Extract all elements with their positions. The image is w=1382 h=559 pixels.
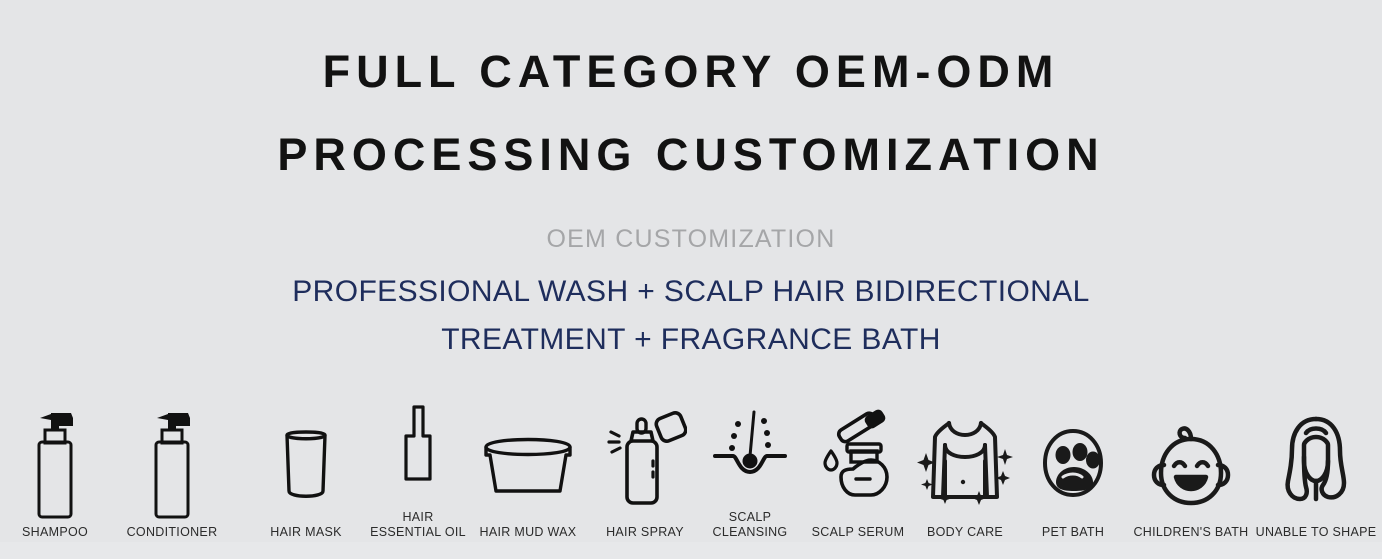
baby-face-icon	[1126, 409, 1256, 519]
category-icon-row: SHAMPOO CONDITIONER	[0, 370, 1382, 540]
tub-icon	[463, 409, 593, 519]
promo-banner: FULL CATEGORY OEM-ODM PROCESSING CUSTOMI…	[0, 0, 1382, 559]
category-item-pet-bath[interactable]: PET BATH	[1008, 370, 1138, 540]
category-item-shampoo[interactable]: SHAMPOO	[0, 370, 120, 540]
page-title: FULL CATEGORY OEM-ODM PROCESSING CUSTOMI…	[0, 30, 1382, 196]
category-item-childrens-bath[interactable]: CHILDREN'S BATH	[1126, 370, 1256, 540]
subtitle-blue-line-1: PROFESSIONAL WASH + SCALP HAIR BIDIRECTI…	[0, 268, 1382, 316]
title-line-2: PROCESSING CUSTOMIZATION	[0, 113, 1382, 196]
category-label: UNABLE TO SHAPE	[1251, 525, 1381, 540]
category-item-hair-mud-wax[interactable]: HAIR MUD WAX	[463, 370, 593, 540]
pump-bottle-icon	[107, 409, 237, 519]
subtitle-blue-line-2: TREATMENT + FRAGRANCE BATH	[0, 316, 1382, 364]
category-item-hair-mask[interactable]: HAIR MASK	[241, 370, 371, 540]
category-item-conditioner[interactable]: CONDITIONER	[107, 370, 237, 540]
category-label: HAIR MASK	[241, 525, 371, 540]
subtitle-blue: PROFESSIONAL WASH + SCALP HAIR BIDIRECTI…	[0, 268, 1382, 364]
paw-print-icon	[1008, 409, 1138, 519]
category-label: PET BATH	[1008, 525, 1138, 540]
category-label: CHILDREN'S BATH	[1126, 525, 1256, 540]
long-hair-woman-icon	[1251, 409, 1381, 519]
jar-icon	[241, 409, 371, 519]
category-label: HAIR MUD WAX	[463, 525, 593, 540]
pump-bottle-icon	[0, 409, 120, 519]
category-item-unable-to-shape[interactable]: UNABLE TO SHAPE	[1251, 370, 1381, 540]
bottom-band	[0, 542, 1382, 559]
title-line-1: FULL CATEGORY OEM-ODM	[0, 30, 1382, 113]
category-label: CONDITIONER	[107, 525, 237, 540]
subtitle-oem: OEM CUSTOMIZATION	[0, 223, 1382, 255]
category-label: SHAMPOO	[0, 525, 120, 540]
